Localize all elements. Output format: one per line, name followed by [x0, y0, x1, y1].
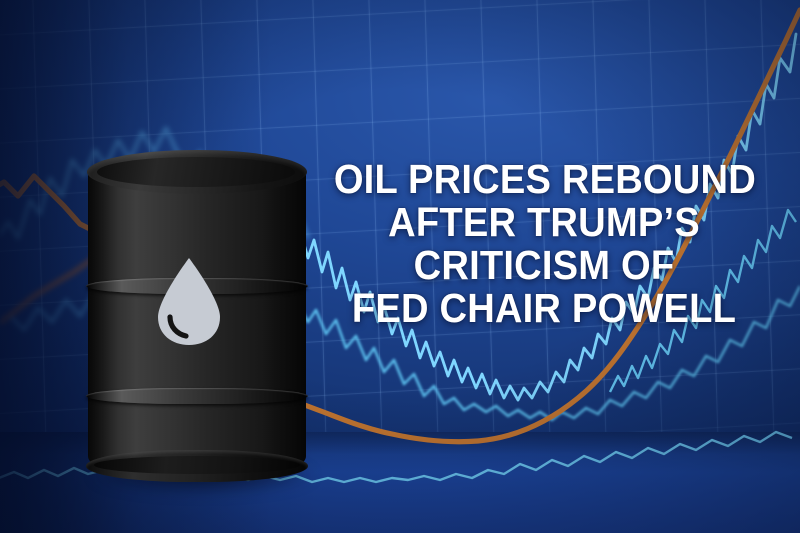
headline-line-2: AFTER TRUMP’S	[334, 201, 754, 244]
headline-line-4: FED CHAIR POWELL	[334, 287, 754, 330]
news-graphic: OIL PRICES REBOUND AFTER TRUMP’S CRITICI…	[0, 0, 800, 533]
headline-line-1: OIL PRICES REBOUND	[334, 158, 754, 201]
barrel-top-lid	[97, 157, 295, 187]
oil-barrel	[88, 150, 306, 480]
oil-droplet-icon	[150, 255, 228, 347]
barrel-top-rim	[87, 150, 307, 194]
headline: OIL PRICES REBOUND AFTER TRUMP’S CRITICI…	[334, 158, 754, 330]
barrel-bottom-face	[94, 456, 300, 474]
barrel-rib-lower	[86, 388, 308, 404]
headline-line-3: CRITICISM OF	[334, 244, 754, 287]
